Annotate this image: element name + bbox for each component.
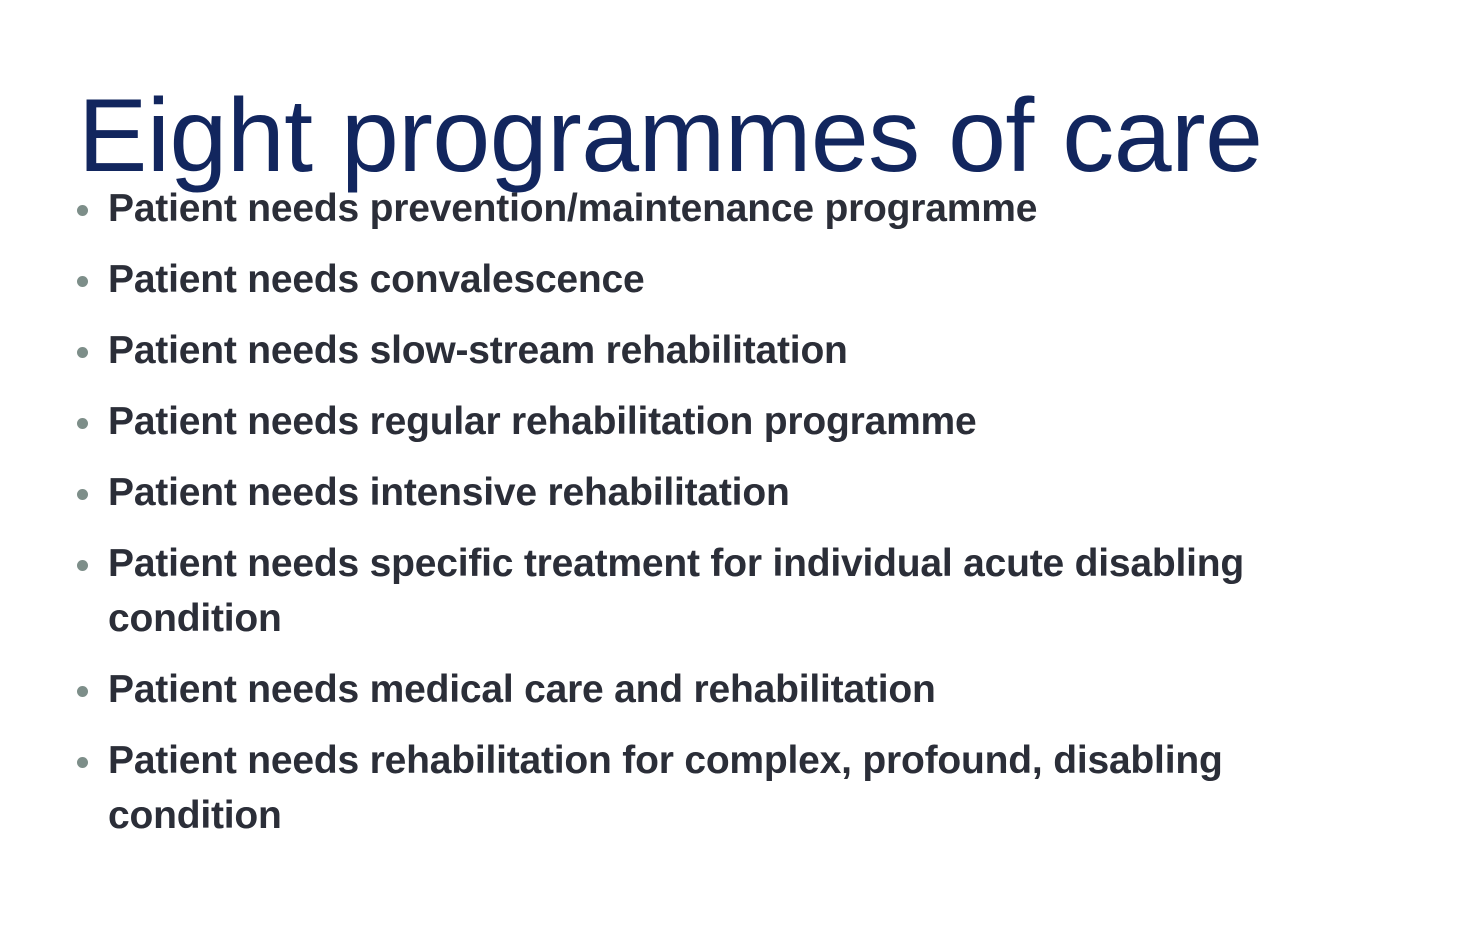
list-item: Patient needs convalescence bbox=[66, 252, 1406, 307]
bullet-dot-icon bbox=[77, 276, 88, 287]
list-item-label: Patient needs intensive rehabilitation bbox=[108, 465, 1406, 520]
presentation-slide: Eight programmes of care Patient needs p… bbox=[0, 0, 1461, 937]
bullet-dot-icon bbox=[77, 418, 88, 429]
list-item-label: Patient needs slow-stream rehabilitation bbox=[108, 323, 1406, 378]
list-item: Patient needs medical care and rehabilit… bbox=[66, 662, 1406, 717]
list-item: Patient needs prevention/maintenance pro… bbox=[66, 181, 1406, 236]
bullet-dot-icon bbox=[77, 686, 88, 697]
list-item-label: Patient needs prevention/maintenance pro… bbox=[108, 181, 1406, 236]
bullet-list: Patient needs prevention/maintenance pro… bbox=[66, 181, 1406, 843]
list-item: Patient needs slow-stream rehabilitation bbox=[66, 323, 1406, 378]
list-item-label: Patient needs regular rehabilitation pro… bbox=[108, 394, 1406, 449]
bullet-dot-icon bbox=[77, 205, 88, 216]
bullet-dot-icon bbox=[77, 347, 88, 358]
list-item: Patient needs intensive rehabilitation bbox=[66, 465, 1406, 520]
list-item: Patient needs specific treatment for ind… bbox=[66, 536, 1406, 646]
list-item-label: Patient needs specific treatment for ind… bbox=[108, 536, 1406, 646]
slide-title: Eight programmes of care bbox=[78, 76, 1408, 197]
list-item-label: Patient needs convalescence bbox=[108, 252, 1406, 307]
bullet-dot-icon bbox=[77, 489, 88, 500]
list-item-label: Patient needs medical care and rehabilit… bbox=[108, 662, 1406, 717]
bullet-dot-icon bbox=[77, 757, 88, 768]
list-item: Patient needs rehabilitation for complex… bbox=[66, 733, 1406, 843]
list-item: Patient needs regular rehabilitation pro… bbox=[66, 394, 1406, 449]
list-item-label: Patient needs rehabilitation for complex… bbox=[108, 733, 1406, 843]
bullet-dot-icon bbox=[77, 560, 88, 571]
